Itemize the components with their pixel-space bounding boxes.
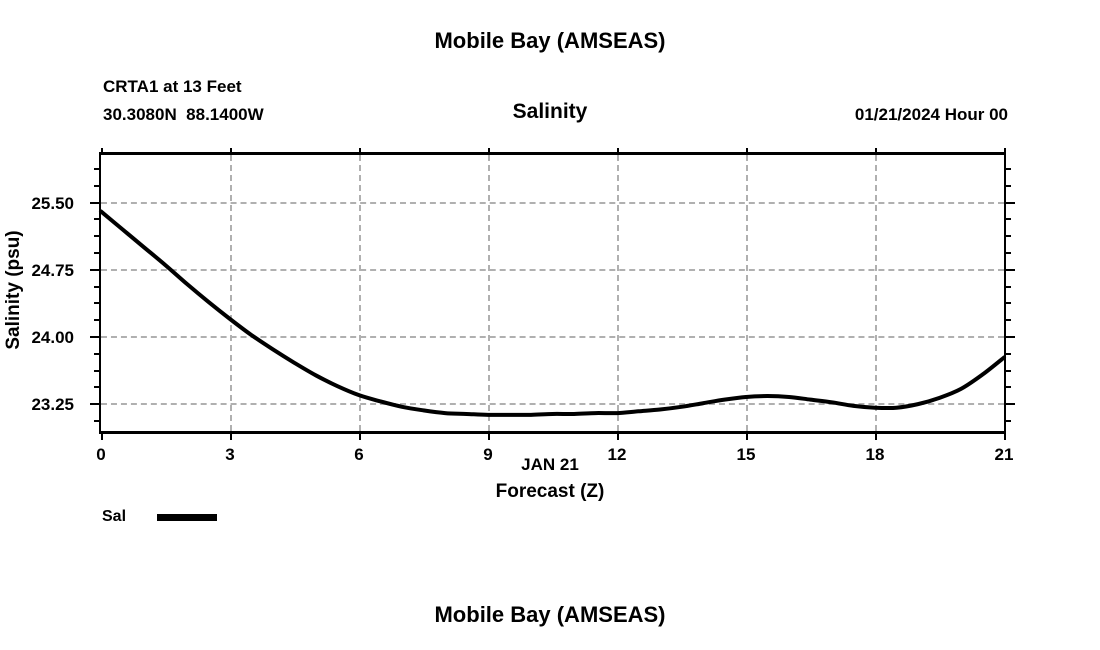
y-tick-minor — [94, 386, 101, 388]
x-tick — [1004, 431, 1006, 440]
chart-title-bottom: Mobile Bay (AMSEAS) — [0, 602, 1100, 628]
y-tick-minor-right — [1004, 235, 1011, 237]
y-tick-minor — [94, 185, 101, 187]
y-tick-major: 23.25 — [90, 403, 101, 405]
y-axis-title: Salinity (psu) — [3, 230, 25, 349]
x-axis-title: Forecast (Z) — [0, 481, 1100, 503]
plot-area: 23.2524.0024.7525.50 036912151821 — [99, 152, 1006, 434]
x-tick-top — [488, 148, 490, 155]
y-tick-minor — [94, 286, 101, 288]
x-tick-top — [875, 148, 877, 155]
y-tick-minor — [94, 420, 101, 422]
y-tick-major: 24.00 — [90, 336, 101, 338]
y-tick-minor-right — [1004, 370, 1011, 372]
y-tick-major-right — [1004, 269, 1015, 271]
y-tick-minor-right — [1004, 319, 1011, 321]
y-tick-minor-right — [1004, 420, 1011, 422]
y-tick-minor-right — [1004, 185, 1011, 187]
x-axis-date-label: JAN 21 — [0, 455, 1100, 475]
station-label: CRTA1 at 13 Feet — [103, 77, 242, 97]
plot-inner: 23.2524.0024.7525.50 036912151821 — [101, 155, 1004, 431]
y-tick-minor-right — [1004, 302, 1011, 304]
y-tick-label: 24.00 — [31, 328, 74, 348]
x-tick — [617, 431, 619, 440]
series-line-salinity — [101, 155, 1004, 431]
datetime-label: 01/21/2024 Hour 00 — [855, 105, 1008, 125]
y-tick-minor-right — [1004, 386, 1011, 388]
x-tick-top — [1004, 148, 1006, 155]
y-tick-label: 24.75 — [31, 261, 74, 281]
y-tick-minor — [94, 353, 101, 355]
y-tick-minor — [94, 235, 101, 237]
y-tick-minor — [94, 218, 101, 220]
chart-title-top: Mobile Bay (AMSEAS) — [0, 28, 1100, 54]
x-tick-top — [230, 148, 232, 155]
y-tick-major: 24.75 — [90, 269, 101, 271]
x-tick — [230, 431, 232, 440]
y-tick-minor-right — [1004, 252, 1011, 254]
chart-page: Mobile Bay (AMSEAS) CRTA1 at 13 Feet 30.… — [0, 0, 1100, 650]
legend-label-sal: Sal — [102, 508, 157, 526]
y-tick-minor — [94, 168, 101, 170]
x-tick-top — [359, 148, 361, 155]
y-tick-label: 25.50 — [31, 194, 74, 214]
y-tick-minor — [94, 319, 101, 321]
y-tick-major-right — [1004, 202, 1015, 204]
y-tick-minor — [94, 252, 101, 254]
legend-swatch-sal — [157, 514, 217, 521]
x-tick — [488, 431, 490, 440]
x-tick-top — [617, 148, 619, 155]
legend: Sal — [102, 508, 217, 526]
y-tick-major: 25.50 — [90, 202, 101, 204]
y-tick-minor — [94, 370, 101, 372]
x-tick — [746, 431, 748, 440]
x-tick — [359, 431, 361, 440]
y-tick-minor-right — [1004, 218, 1011, 220]
series-path-sal — [101, 211, 1004, 414]
x-tick-top — [101, 148, 103, 155]
x-tick — [101, 431, 103, 440]
y-tick-minor-right — [1004, 286, 1011, 288]
y-tick-minor-right — [1004, 353, 1011, 355]
y-tick-major-right — [1004, 336, 1015, 338]
x-tick — [875, 431, 877, 440]
x-tick-top — [746, 148, 748, 155]
y-tick-label: 23.25 — [31, 395, 74, 415]
y-tick-major-right — [1004, 403, 1015, 405]
y-tick-minor — [94, 302, 101, 304]
y-tick-minor-right — [1004, 168, 1011, 170]
